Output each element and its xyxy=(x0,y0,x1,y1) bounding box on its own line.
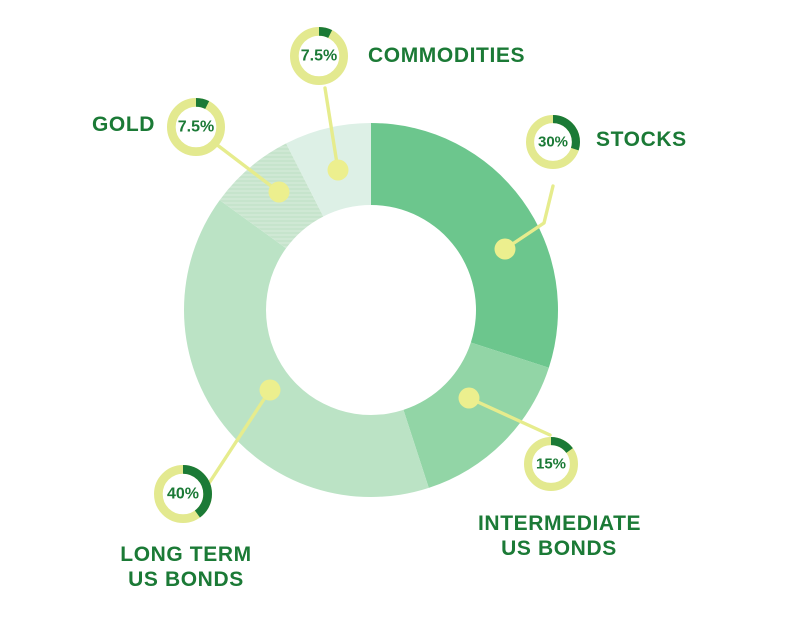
donut-chart-infographic: 30%15%40%7.5%7.5% STOCKS INTERMEDIATE US… xyxy=(0,0,800,643)
percent-badge-stocks[interactable]: 30% xyxy=(530,119,576,165)
percent-badge-commodities[interactable]: 7.5% xyxy=(294,31,343,80)
badge-value-intermediate: 15% xyxy=(536,456,566,473)
percent-badge-gold[interactable]: 7.5% xyxy=(171,102,220,151)
slice-label-commodities: COMMODITIES xyxy=(368,44,525,69)
badge-value-gold: 7.5% xyxy=(178,119,214,136)
leader-dot-long-term xyxy=(260,380,281,401)
leader-dot-gold xyxy=(269,182,290,203)
donut-slice-stocks[interactable] xyxy=(371,123,558,368)
leader-dot-intermediate xyxy=(459,388,480,409)
percent-badge-long-term[interactable]: 40% xyxy=(158,469,207,518)
slice-label-gold: GOLD xyxy=(92,113,155,138)
donut-slice-long-term-us-bonds[interactable] xyxy=(184,200,429,497)
badge-value-commodities: 7.5% xyxy=(301,48,337,65)
slice-label-intermediate: INTERMEDIATE US BONDS xyxy=(478,512,640,562)
badge-value-long-term: 40% xyxy=(167,486,199,503)
percent-badge-intermediate[interactable]: 15% xyxy=(528,441,574,487)
badge-value-stocks: 30% xyxy=(538,134,568,151)
slice-label-long-term: LONG TERM US BONDS xyxy=(113,543,259,593)
slice-label-stocks: STOCKS xyxy=(596,128,687,153)
donut-slices xyxy=(184,123,558,497)
leader-dot-stocks xyxy=(495,239,516,260)
leader-dot-commodities xyxy=(328,160,349,181)
